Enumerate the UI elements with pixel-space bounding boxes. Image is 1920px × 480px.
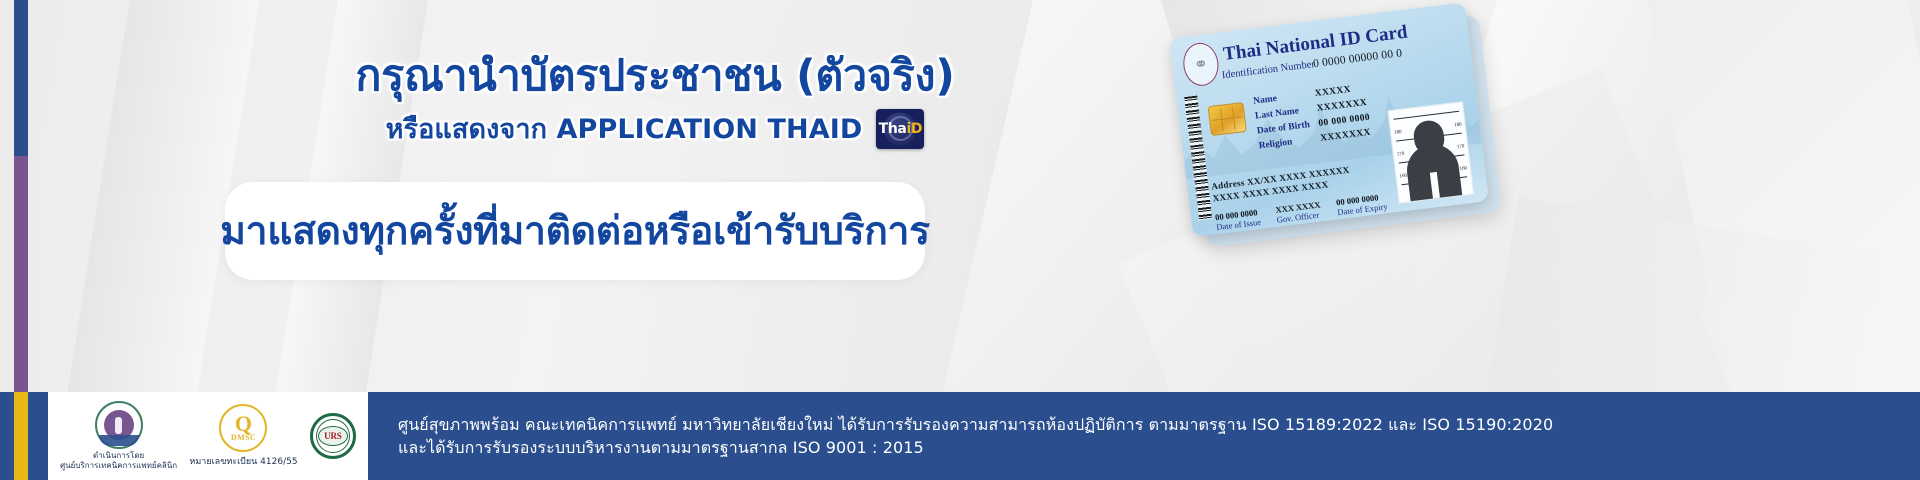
ruler-tick: 180 xyxy=(1454,123,1462,129)
cmu-amtc-seal-icon xyxy=(95,401,143,449)
logo-caption: ดำเนินการโดย ศูนย์บริการเทคนิคการแพทย์คล… xyxy=(60,451,177,471)
ruler-tick: 180 xyxy=(1394,130,1402,136)
id-card-notice-banner: กรุณานำบัตรประชาชน (ตัวจริง) หรือแสดงจาก… xyxy=(0,0,1920,480)
accent-bar-purple xyxy=(14,156,28,392)
card-field-label: Religion xyxy=(1258,134,1321,151)
ruler-tick: 170 xyxy=(1397,152,1405,158)
dmsc-subtext: DMSC xyxy=(231,433,256,442)
footer-line-1: ศูนย์สุขภาพพร้อม คณะเทคนิคการแพทย์ มหาวิ… xyxy=(398,413,1920,436)
card-field-value: XXXXX xyxy=(1314,85,1351,99)
card-photo: 180 180 170 170 160 160 xyxy=(1387,101,1474,204)
logo-item: Q DMSC หมายเลขทะเบียน 4126/55 xyxy=(189,404,297,468)
smart-chip-icon xyxy=(1208,102,1247,136)
urs-seal-ring xyxy=(316,419,350,453)
thai-national-id-card-illustration: ⚭ Thai National ID Card Identification N… xyxy=(1169,0,1521,318)
card-meta-item: 00 000 0000 Date of Issue xyxy=(1215,207,1262,232)
dmsc-quality-seal-icon: Q DMSC xyxy=(219,404,267,452)
card-meta-item: 00 000 0000 Date of Expiry xyxy=(1336,191,1389,217)
ruler-tick: 170 xyxy=(1457,144,1465,150)
thaid-wordmark: ThaiD xyxy=(879,122,922,136)
urs-iso9001-seal-icon: URS xyxy=(310,413,356,459)
callout-text: มาแสดงทุกครั้งที่มาติดต่อหรือเข้ารับบริก… xyxy=(220,200,930,262)
thaid-app-icon: ThaiD xyxy=(876,109,924,149)
ruler-tick: 160 xyxy=(1459,166,1467,172)
thaid-wordmark-tha: Tha xyxy=(879,121,907,137)
accent-bar-navy xyxy=(14,0,28,156)
logo-caption: หมายเลขทะเบียน 4126/55 xyxy=(189,454,297,468)
card-field-label: Last Name xyxy=(1255,104,1318,121)
footer-stripe-navy-left xyxy=(0,392,14,480)
page-title: กรุณานำบัตรประชาชน (ตัวจริง) xyxy=(225,52,1085,100)
accreditation-logo-panel: ดำเนินการโดย ศูนย์บริการเทคนิคการแพทย์คล… xyxy=(48,392,368,480)
card-field-label: Name xyxy=(1253,89,1316,106)
subtitle: หรือแสดงจาก APPLICATION THAID xyxy=(386,107,863,150)
card-field-label: Date of Birth xyxy=(1256,119,1319,136)
headline-block: กรุณานำบัตรประชาชน (ตัวจริง) หรือแสดงจาก… xyxy=(225,52,1085,150)
cmu-seal-figure xyxy=(115,417,122,434)
garuda-seal-icon: ⚭ xyxy=(1181,41,1221,88)
ruler-tick: 160 xyxy=(1399,174,1407,180)
card-field-value: XXXXXXX xyxy=(1316,98,1368,114)
footer-line-2: และได้รับการรับรองระบบบริหารงานตามมาตรฐา… xyxy=(398,436,1920,459)
card-meta-item: XXX XXXX Gov. Officer xyxy=(1275,199,1322,224)
subline-row: หรือแสดงจาก APPLICATION THAID ThaiD xyxy=(225,107,1085,150)
callout-panel: มาแสดงทุกครั้งที่มาติดต่อหรือเข้ารับบริก… xyxy=(225,182,925,280)
cmu-seal-wing xyxy=(99,435,139,446)
logo-item: ดำเนินการโดย ศูนย์บริการเทคนิคการแพทย์คล… xyxy=(60,401,177,471)
logo-item: URS xyxy=(310,413,356,459)
footer-bar: ดำเนินการโดย ศูนย์บริการเทคนิคการแพทย์คล… xyxy=(0,392,1920,480)
card-field-value: XXXXXXX xyxy=(1320,128,1372,144)
footer-text-block: ศูนย์สุขภาพพร้อม คณะเทคนิคการแพทย์ มหาวิ… xyxy=(368,392,1920,480)
card-field-value: 00 000 0000 xyxy=(1318,113,1371,129)
footer-stripe-navy-right xyxy=(28,392,48,480)
id-card-face: ⚭ Thai National ID Card Identification N… xyxy=(1169,2,1489,237)
footer-stripe-gold xyxy=(14,392,28,480)
thaid-wordmark-id: iD xyxy=(906,121,922,137)
dmsc-q-glyph: Q xyxy=(235,414,252,434)
